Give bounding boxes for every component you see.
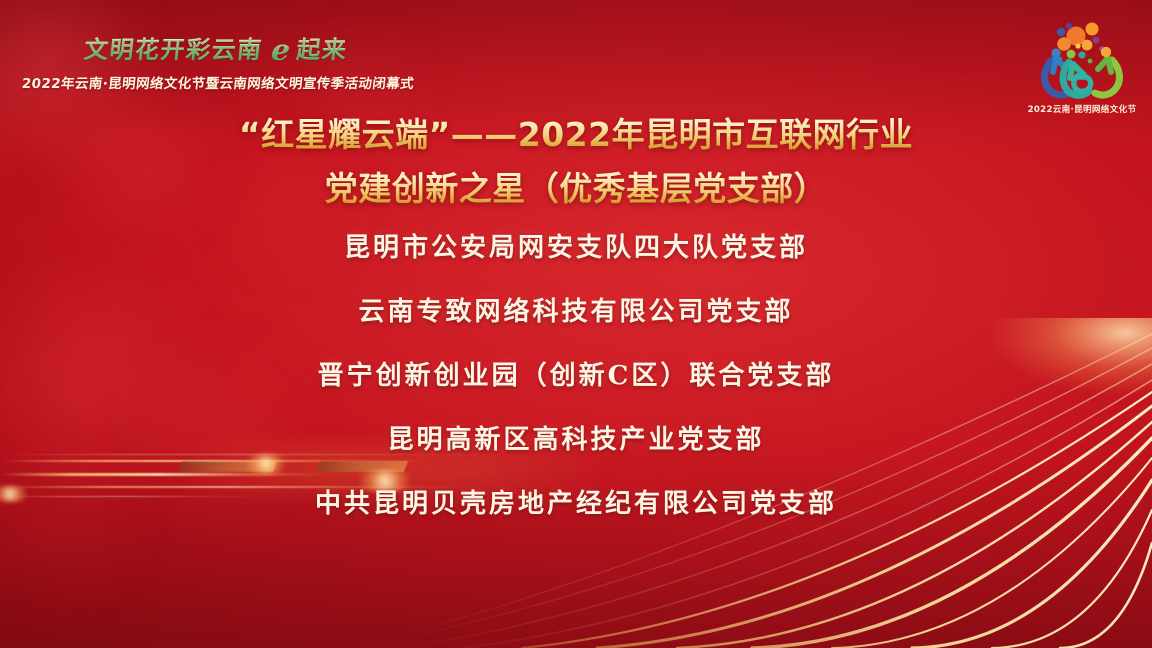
brand-slogan-part1: 文明花开彩云南 [83,36,264,64]
award-list-item: 中共昆明贝壳房地产经纪有限公司党支部 [0,472,1152,536]
brand-slogan: 文明花开彩云南e起来 [20,36,443,65]
award-list-item: 昆明市公安局网安支队四大队党支部 [0,216,1152,280]
brand-event-line: 2022年云南·昆明网络文化节暨云南网络文明宣传季活动闭幕式 [21,72,443,92]
page-title-line-2: 党建创新之星（优秀基层党支部） [0,162,1152,216]
award-list-item: 晋宁创新创业园（创新C区）联合党支部 [0,344,1152,408]
event-brand-block: 文明花开彩云南e起来 2022年云南·昆明网络文化节暨云南网络文明宣传季活动闭幕… [22,36,442,92]
page-title-line-1: “红星耀云端”——2022年昆明市互联网行业 [0,108,1152,162]
award-list-item: 昆明高新区高科技产业党支部 [0,408,1152,472]
brand-slogan-e: e [270,36,293,65]
logo-bubbles [1053,23,1104,64]
award-list-item: 云南专致网络科技有限公司党支部 [0,280,1152,344]
page-title: “红星耀云端”——2022年昆明市互联网行业 党建创新之星（优秀基层党支部） [0,108,1152,216]
award-list: 昆明市公安局网安支队四大队党支部 云南专致网络科技有限公司党支部 晋宁创新创业园… [0,216,1152,536]
brand-slogan-part2: 起来 [295,36,349,64]
slide-canvas: 文明花开彩云南e起来 2022年云南·昆明网络文化节暨云南网络文明宣传季活动闭幕… [0,0,1152,648]
festival-logo: 2022云南·昆明网络文化节 [1026,14,1138,114]
